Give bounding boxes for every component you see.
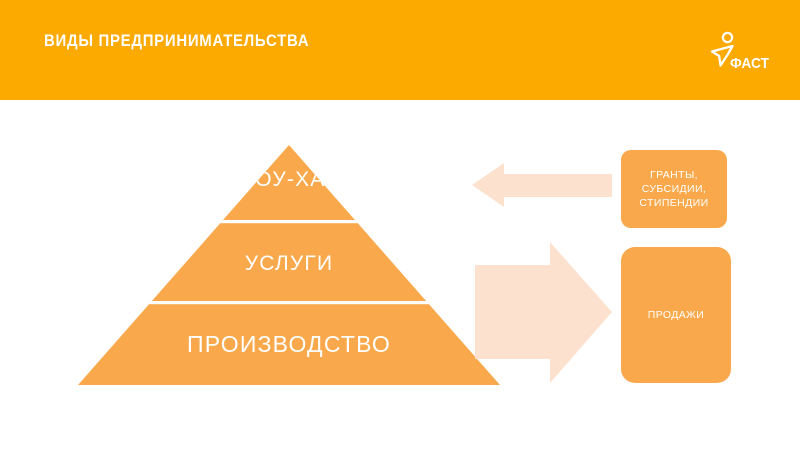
grants-box[interactable]: ГРАНТЫ, СУБСИДИИ, СТИПЕНДИИ [621, 150, 727, 228]
business-types-pyramid: НОУ-ХАУ УСЛУГИ ПРОИЗВОДСТВО [70, 138, 510, 393]
grants-box-line-3: СТИПЕНДИИ [639, 196, 708, 210]
sales-box-text: ПРОДАЖИ [648, 309, 704, 321]
grants-box-line-2: СУБСИДИИ, [639, 182, 708, 196]
page-title: ВИДЫ ПРЕДПРИНИМАТЕЛЬСТВА [44, 31, 309, 51]
arrow-right-icon [472, 232, 612, 392]
sales-box[interactable]: ПРОДАЖИ [621, 247, 731, 383]
pyramid-shape [70, 138, 510, 393]
logo-wordmark: ФАСТ [730, 55, 769, 72]
brand-logo: ФАСТ [706, 30, 778, 76]
slide-canvas: ВИДЫ ПРЕДПРИНИМАТЕЛЬСТВА ФАСТ [0, 0, 800, 450]
header-bar: ВИДЫ ПРЕДПРИНИМАТЕЛЬСТВА ФАСТ [0, 0, 800, 100]
arrow-left-icon [472, 160, 612, 210]
grants-box-text: ГРАНТЫ, СУБСИДИИ, СТИПЕНДИИ [639, 168, 708, 210]
grants-box-line-1: ГРАНТЫ, [639, 168, 708, 182]
